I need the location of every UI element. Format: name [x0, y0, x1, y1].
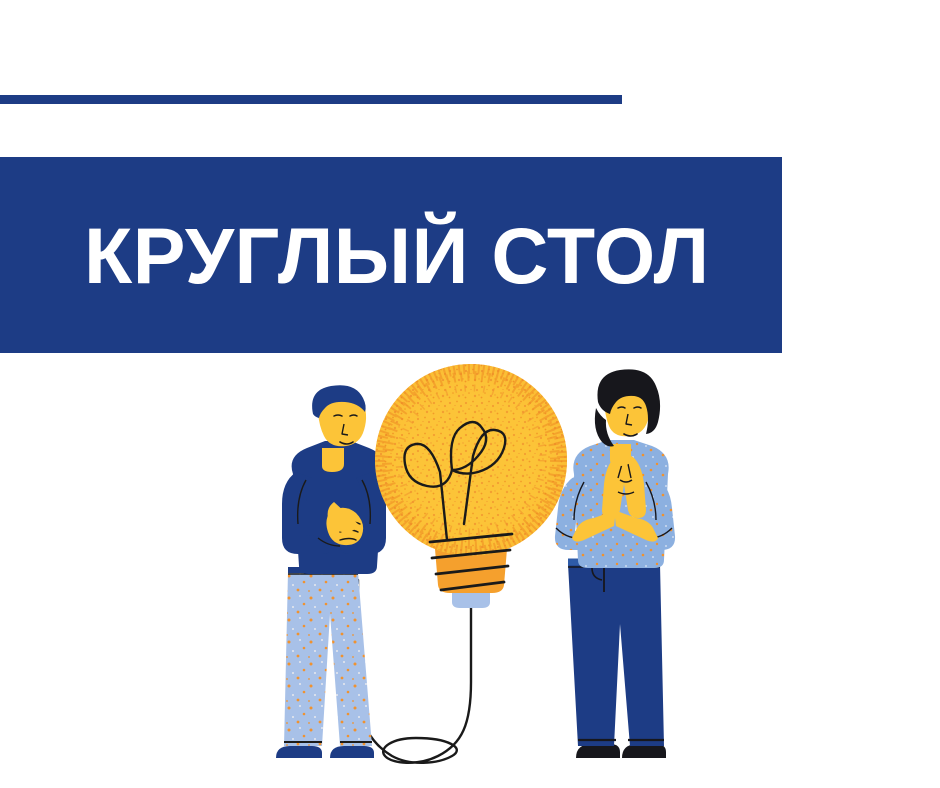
page-title: КРУГЛЫЙ СТОЛ	[84, 216, 710, 295]
title-banner: КРУГЛЫЙ СТОЛ	[0, 157, 782, 353]
lightbulb-icon	[375, 364, 567, 608]
illustration-two-people-with-giant-lightbulb	[0, 352, 940, 788]
person-left-man	[276, 385, 386, 758]
person-right-woman	[555, 369, 675, 758]
bulb-cord-icon	[358, 580, 471, 763]
top-divider-rule	[0, 95, 622, 104]
slide-canvas: КРУГЛЫЙ СТОЛ	[0, 0, 940, 788]
